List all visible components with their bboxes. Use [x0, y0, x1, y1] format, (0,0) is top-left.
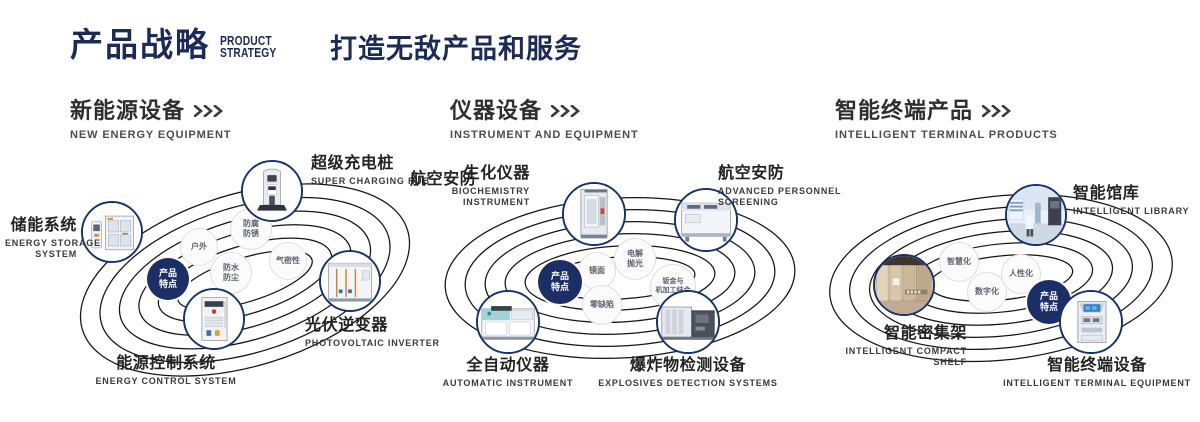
feature-bubble-text-line1: 防水 — [223, 263, 239, 273]
product-label-energy-control: 能源控制系统 ENERGY CONTROL SYSTEM — [86, 356, 246, 386]
product-label-cn: 爆炸物检测设备 — [598, 358, 778, 374]
section-title-intelligent: 智能终端产品 — [835, 100, 973, 122]
feature-bubble-text-line1: 防腐 — [243, 219, 259, 229]
product-label-cn: 储能系统 — [5, 218, 77, 234]
product-node-biochemistry-instrument[interactable] — [562, 182, 626, 246]
product-label-energy-storage: 储能系统 ENERGY STORAGE SYSTEM — [5, 218, 77, 259]
product-node-automatic-instrument[interactable] — [476, 290, 540, 354]
feature-bubble-text-line2: 防尘 — [223, 273, 239, 283]
section-header-new-energy: 新能源设备 NEW ENERGY EQUIPMENT — [70, 100, 231, 141]
product-label-cn: 光伏逆变器 — [305, 318, 440, 334]
core-bubble-text-line1: 产品 — [551, 271, 569, 282]
infographic-canvas: 产品战略 PRODUCT STRATEGY 打造无敌产品和服务 新能源设备 NE… — [0, 0, 1200, 422]
chevron-right-icon — [551, 105, 585, 117]
product-label-en-line2: SHELF — [785, 358, 967, 367]
product-label-en-line1: ENERGY STORAGE — [5, 239, 77, 248]
feature-bubble-mirror: 镜面 — [578, 252, 616, 290]
product-label-cn: 能源控制系统 — [86, 356, 246, 372]
feature-bubble-airtight: 气密性 — [269, 242, 307, 280]
product-label-en-line1: EXPLOSIVES DETECTION SYSTEMS — [598, 379, 778, 388]
core-bubble-text-line2: 特点 — [1040, 302, 1058, 313]
feature-bubble-text: 智慧化 — [947, 257, 971, 267]
cluster-new-energy: 户外 防腐 防锈 防水 防尘 气密性 产品 特点 — [55, 160, 435, 390]
product-node-energy-control[interactable] — [183, 288, 245, 350]
core-bubble-text-line2: 特点 — [159, 279, 177, 290]
core-bubble-text-line2: 特点 — [551, 282, 569, 293]
product-label-cn: 智能馆库 — [1073, 186, 1189, 202]
section-subtitle-new-energy: NEW ENERGY EQUIPMENT — [70, 130, 231, 141]
feature-bubble-text: 户外 — [191, 242, 207, 252]
feature-bubble-text-line1: 电解 — [627, 249, 643, 259]
chevron-right-icon — [982, 105, 1016, 117]
product-node-energy-storage[interactable] — [81, 201, 143, 263]
product-label-pv-inverter: 光伏逆变器 PHOTOVOLTAIC INVERTER — [305, 318, 440, 348]
feature-bubble-text-line2: 抛光 — [627, 259, 643, 269]
feature-bubble-text: 人性化 — [1009, 269, 1033, 279]
product-node-terminal-equipment[interactable] — [1059, 290, 1123, 354]
product-label-cn: 航空安防 — [410, 172, 476, 188]
feature-bubble-text: 镜面 — [589, 266, 605, 276]
product-label-en-line2: INSTRUMENT — [400, 198, 530, 207]
chevron-right-icon — [194, 105, 228, 117]
feature-bubble-outdoor: 户外 — [180, 228, 218, 266]
product-node-compact-shelf[interactable] — [873, 254, 935, 316]
library-room-photo — [1007, 186, 1065, 244]
product-label-en-line2: SYSTEM — [5, 250, 77, 259]
explosives-detector-photo — [658, 292, 718, 352]
product-label-cn: 全自动仪器 — [428, 358, 588, 374]
feature-bubble-electropolishing: 电解 抛光 — [614, 238, 656, 280]
product-label-aviation-security-left: 航空安防 — [410, 172, 476, 188]
pv-inverter-photo — [321, 252, 379, 310]
product-label-automatic-instrument: 全自动仪器 AUTOMATIC INSTRUMENT — [428, 358, 588, 388]
page-title-english-line1: PRODUCT — [220, 35, 276, 48]
section-header-intelligent: 智能终端产品 INTELLIGENT TERMINAL PRODUCTS — [835, 100, 1058, 141]
product-label-terminal-equipment: 智能终端设备 INTELLIGENT TERMINAL EQUIPMENT — [1001, 358, 1193, 388]
battery-cabinet-photo — [83, 203, 141, 261]
product-label-en-line1: BIOCHEMISTRY — [400, 187, 530, 196]
product-label-cn: 智能密集架 — [785, 326, 967, 342]
feature-bubble-text: 气密性 — [276, 256, 300, 266]
product-node-charging-hub[interactable] — [241, 160, 303, 222]
product-label-en-line1: INTELLIGENT LIBRARY — [1073, 207, 1189, 216]
product-label-en-line1: INTELLIGENT COMPACT — [785, 347, 967, 356]
product-node-explosives-detection[interactable] — [656, 290, 720, 354]
cluster-instrument: 镜面 电解 抛光 零缺陷 钣金与 机加工结合 产品 特点 — [430, 160, 810, 390]
compact-shelf-photo — [875, 256, 933, 314]
automatic-instrument-photo — [478, 292, 538, 352]
feature-bubble-text-line1: 钣金与 — [663, 278, 684, 287]
section-title-instrument: 仪器设备 — [450, 100, 542, 122]
feature-bubble-zero-defect: 零缺陷 — [582, 285, 622, 325]
control-cabinet-photo — [185, 290, 243, 348]
core-bubble-product-features: 产品 特点 — [538, 260, 582, 304]
product-node-pv-inverter[interactable] — [319, 250, 381, 312]
product-label-cn: 智能终端设备 — [1001, 358, 1193, 374]
core-bubble-text-line1: 产品 — [1040, 291, 1058, 302]
self-service-kiosk-photo — [1061, 292, 1121, 352]
page-slogan: 打造无敌产品和服务 — [330, 36, 582, 63]
feature-bubble-text-line2: 防锈 — [243, 229, 259, 239]
biochemistry-instrument-photo — [564, 184, 624, 244]
section-subtitle-instrument: INSTRUMENT AND EQUIPMENT — [450, 130, 639, 141]
cluster-intelligent: 智慧化 数字化 人性化 产品 特点 — [815, 160, 1195, 390]
feature-bubble-text: 零缺陷 — [590, 300, 614, 310]
product-label-explosives-detection: 爆炸物检测设备 EXPLOSIVES DETECTION SYSTEMS — [598, 358, 778, 388]
page-title-block: 产品战略 PRODUCT STRATEGY — [70, 28, 289, 61]
product-label-compact-shelf: 智能密集架 INTELLIGENT COMPACT SHELF — [785, 326, 967, 367]
core-bubble-text-line1: 产品 — [159, 268, 177, 279]
page-title-english: PRODUCT STRATEGY — [220, 35, 276, 61]
product-label-en-line1: INTELLIGENT TERMINAL EQUIPMENT — [1001, 379, 1193, 388]
product-label-en-line1: PHOTOVOLTAIC INVERTER — [305, 339, 440, 348]
product-label-en-line1: AUTOMATIC INSTRUMENT — [428, 379, 588, 388]
section-title-new-energy: 新能源设备 — [70, 100, 185, 122]
charging-pile-photo — [243, 162, 301, 220]
product-label-en-line1: ENERGY CONTROL SYSTEM — [86, 377, 246, 386]
page-title: 产品战略 — [70, 28, 210, 61]
product-node-intelligent-library[interactable] — [1005, 184, 1067, 246]
core-bubble-product-features: 产品 特点 — [147, 258, 189, 300]
feature-bubble-text: 数字化 — [975, 287, 999, 297]
page-title-english-line2: STRATEGY — [220, 47, 276, 60]
section-subtitle-intelligent: INTELLIGENT TERMINAL PRODUCTS — [835, 130, 1058, 141]
product-label-intelligent-library: 智能馆库 INTELLIGENT LIBRARY — [1073, 186, 1189, 216]
section-header-instrument: 仪器设备 INSTRUMENT AND EQUIPMENT — [450, 100, 639, 141]
